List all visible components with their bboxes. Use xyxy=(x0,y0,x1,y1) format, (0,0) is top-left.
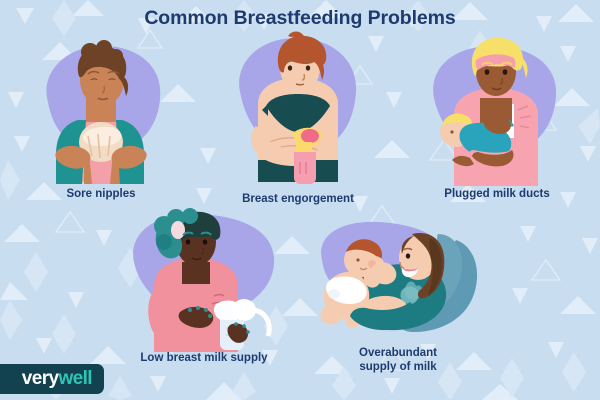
caption-breast-engorgement: Breast engorgement xyxy=(216,193,380,207)
caption-overabundant-supply: Overabundant supply of milk xyxy=(306,347,490,374)
caption-low-breast-milk-supply: Low breast milk supply xyxy=(114,352,294,366)
page-title: Common Breastfeeding Problems xyxy=(0,7,600,30)
illustration-breast-engorgement xyxy=(222,30,374,188)
illustration-overabundant-supply xyxy=(306,216,488,352)
caption-plugged-milk-ducts: Plugged milk ducts xyxy=(412,188,582,202)
logo-text-very: very xyxy=(22,368,59,390)
illustration-sore-nipples xyxy=(28,36,174,188)
illustration-plugged-milk-ducts xyxy=(418,34,574,188)
illustration-low-breast-milk-supply xyxy=(120,208,288,354)
caption-sore-nipples: Sore nipples xyxy=(21,188,181,202)
logo-text-well: well xyxy=(58,368,92,390)
infographic-canvas: Common Breastfeeding Problems xyxy=(0,0,600,400)
verywell-logo[interactable]: verywell xyxy=(0,364,104,394)
